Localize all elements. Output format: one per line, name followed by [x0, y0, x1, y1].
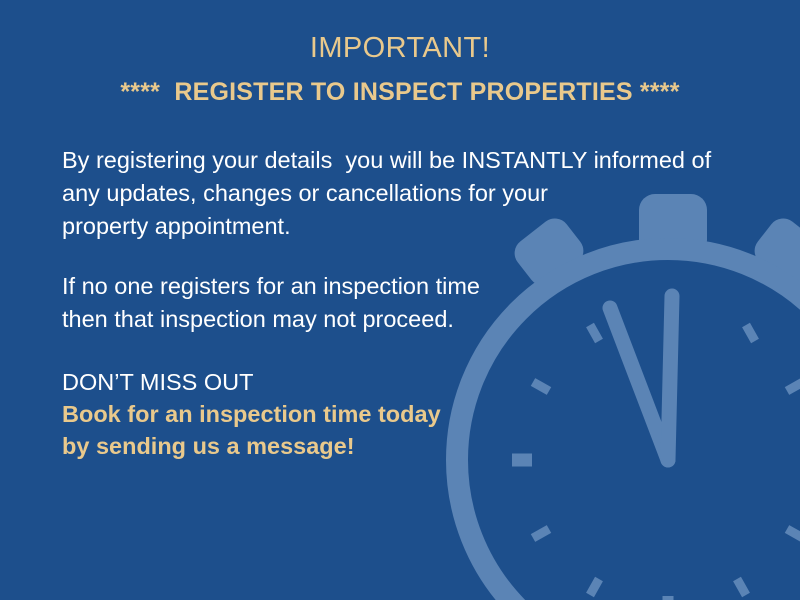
poster-content: IMPORTANT! **** REGISTER TO INSPECT PROP… — [0, 0, 800, 600]
page-subtitle: **** REGISTER TO INSPECT PROPERTIES **** — [0, 72, 800, 112]
cta-line-book-inspection: Book for an inspection time today — [62, 398, 622, 430]
page-title: IMPORTANT! — [0, 30, 800, 66]
body-paragraph-2: If no one registers for an inspection ti… — [62, 270, 722, 336]
cta-line-dont-miss-out: DON’T MISS OUT — [62, 366, 622, 398]
call-to-action-block: DON’T MISS OUT Book for an inspection ti… — [62, 366, 622, 462]
poster-canvas: IMPORTANT! **** REGISTER TO INSPECT PROP… — [0, 0, 800, 600]
headline-block: IMPORTANT! **** REGISTER TO INSPECT PROP… — [0, 30, 800, 112]
cta-line-send-message: by sending us a message! — [62, 430, 622, 462]
body-paragraph-1: By registering your details you will be … — [62, 144, 722, 243]
body-copy: By registering your details you will be … — [62, 144, 722, 336]
